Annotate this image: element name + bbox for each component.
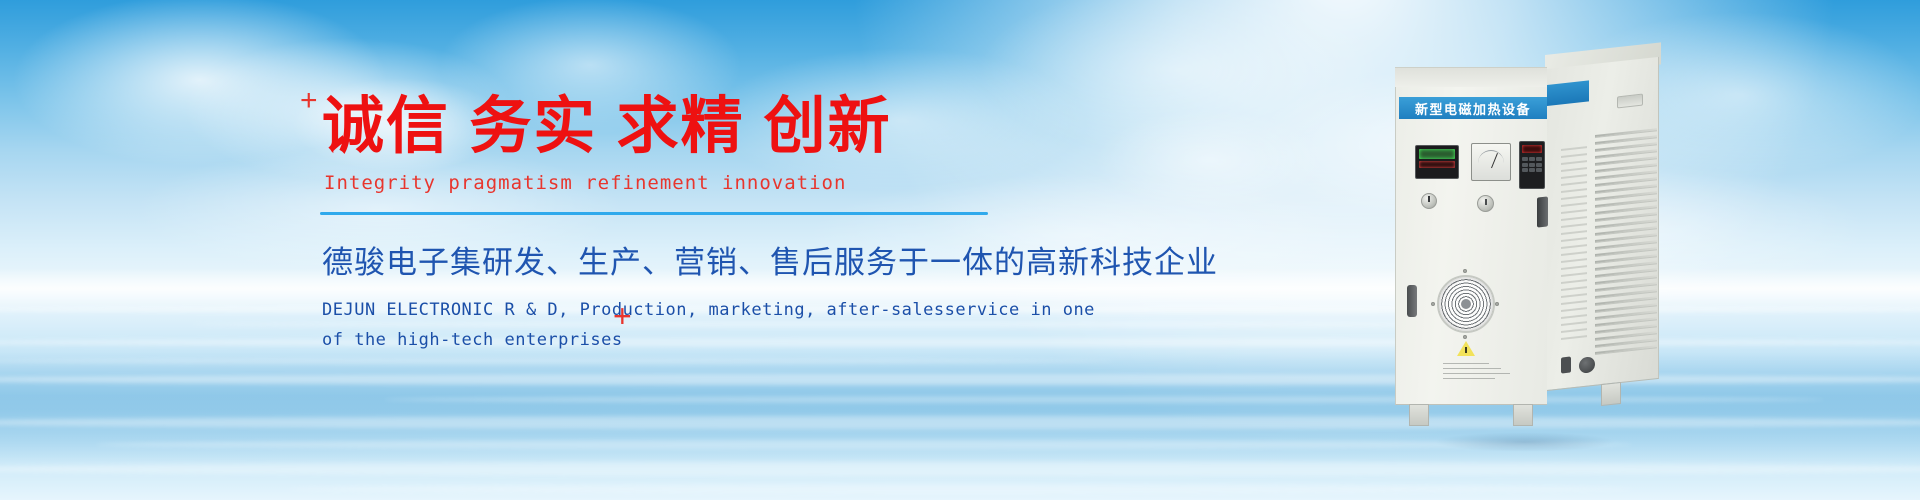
- selector-knob: [1421, 193, 1437, 209]
- fan-screw: [1431, 302, 1435, 306]
- control-keypad: [1519, 141, 1545, 189]
- keypad-buttons: [1522, 157, 1542, 172]
- keypad-key: [1529, 157, 1535, 161]
- keypad-display: [1522, 145, 1542, 153]
- banner-description-en-line2: of the high-tech enterprises: [322, 326, 1018, 356]
- lower-handle: [1407, 285, 1417, 317]
- support-foot: [1409, 404, 1429, 426]
- hero-banner: + + 诚信 务实 求精 创新 Integrity pragmatism ref…: [0, 0, 1920, 500]
- banner-copy-block: 诚信 务实 求精 创新 Integrity pragmatism refinem…: [318, 96, 1018, 356]
- keypad-key: [1536, 163, 1542, 167]
- door-handle: [1537, 196, 1548, 227]
- fan-screw: [1495, 302, 1499, 306]
- meter-scale-arc: [1478, 150, 1504, 163]
- digital-readout-red: [1419, 161, 1455, 168]
- inner-ventilation-louvers: [1561, 146, 1587, 349]
- fan-screw: [1463, 335, 1467, 339]
- high-voltage-warning-sticker-icon: [1457, 341, 1475, 356]
- support-foot: [1601, 382, 1621, 406]
- plus-decoration-icon: +: [613, 298, 632, 335]
- cable-port-rectangular: [1561, 356, 1571, 373]
- product-image-heating-machine: 新型电磁加热设备: [1395, 57, 1695, 457]
- analog-ammeter: [1471, 143, 1511, 181]
- support-foot: [1513, 404, 1533, 426]
- adjust-knob: [1477, 195, 1494, 212]
- keypad-key: [1522, 163, 1528, 167]
- keypad-key: [1529, 163, 1535, 167]
- machine-instruction-label: [1443, 363, 1517, 383]
- machine-label-band: 新型电磁加热设备: [1399, 97, 1547, 119]
- banner-headline-en: Integrity pragmatism refinement innovati…: [324, 172, 1018, 194]
- plus-decoration-icon: +: [300, 84, 318, 118]
- keypad-key: [1522, 168, 1528, 172]
- keypad-key: [1529, 168, 1535, 172]
- keypad-key: [1536, 157, 1542, 161]
- digital-readout-green: [1419, 149, 1455, 159]
- banner-divider: [320, 212, 988, 215]
- banner-subheading-cn: 德骏电子集研发、生产、营销、售后服务于一体的高新科技企业: [322, 237, 1018, 282]
- cooling-fan-grille: [1437, 275, 1495, 333]
- keypad-key: [1522, 157, 1528, 161]
- fan-screw: [1463, 269, 1467, 273]
- product-shadow: [1405, 429, 1645, 455]
- side-ventilation-louvers: [1595, 128, 1657, 365]
- banner-description-en-line1: DEJUN ELECTRONIC R & D, Production, mark…: [322, 296, 1018, 326]
- keypad-key: [1536, 168, 1542, 172]
- digital-temperature-meter: [1415, 145, 1459, 179]
- machine-front-panel: [1395, 87, 1547, 405]
- machine-label-text: 新型电磁加热设备: [1415, 99, 1531, 118]
- banner-headline-cn: 诚信 务实 求精 创新: [322, 96, 1018, 158]
